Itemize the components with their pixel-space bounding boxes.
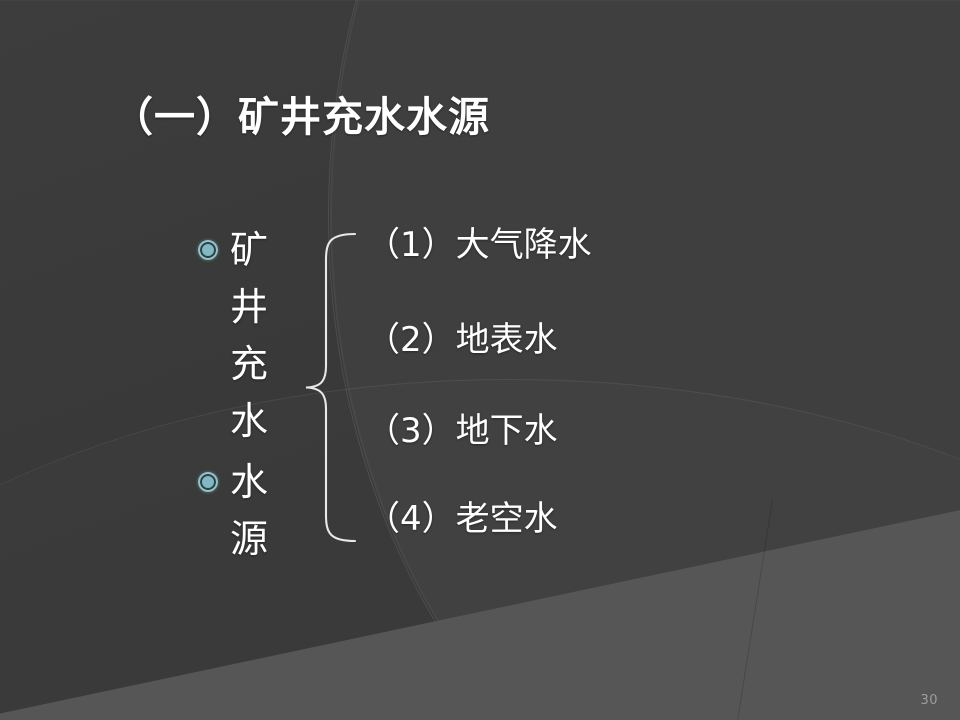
list-item: （1）大气降水: [366, 228, 766, 262]
vertical-char: 矿: [230, 222, 268, 279]
left-curly-brace-icon: [300, 230, 360, 545]
page-number: 30: [920, 693, 938, 708]
vertical-text-block: 水 源: [230, 454, 268, 568]
list-item: （2）地表水: [366, 323, 766, 357]
slide-body: 矿 井 充 水 水 源 （1）大气降水: [0, 0, 960, 720]
vertical-char: 源: [230, 511, 268, 568]
vertical-char: 水: [230, 454, 268, 511]
list-item-label: 地表水: [456, 320, 558, 360]
vertical-char: 井: [230, 279, 268, 336]
list-item-number: （3）: [366, 411, 456, 451]
vertical-char: 水: [230, 393, 268, 450]
list-item: （4）老空水: [366, 502, 766, 536]
bullet-group: 矿 井 充 水: [198, 222, 308, 450]
list-item-label: 老空水: [456, 499, 558, 539]
list-item: （3）地下水: [366, 414, 766, 448]
left-label-column: 矿 井 充 水 水 源: [198, 222, 308, 568]
list-item-number: （2）: [366, 320, 456, 360]
list-item-label: 地下水: [456, 411, 558, 451]
bullet-group: 水 源: [198, 454, 308, 568]
list-item-label: 大气降水: [456, 225, 592, 265]
water-source-list: （1）大气降水 （2）地表水 （3）地下水 （4）老空水: [366, 222, 766, 536]
ring-bullet-icon: [198, 472, 218, 492]
slide-canvas: （一）矿井充水水源 矿 井 充 水 水 源: [0, 0, 960, 720]
list-item-number: （1）: [366, 225, 456, 265]
ring-bullet-icon: [198, 240, 218, 260]
list-item-number: （4）: [366, 499, 456, 539]
vertical-char: 充: [230, 336, 268, 393]
vertical-text-block: 矿 井 充 水: [230, 222, 268, 450]
